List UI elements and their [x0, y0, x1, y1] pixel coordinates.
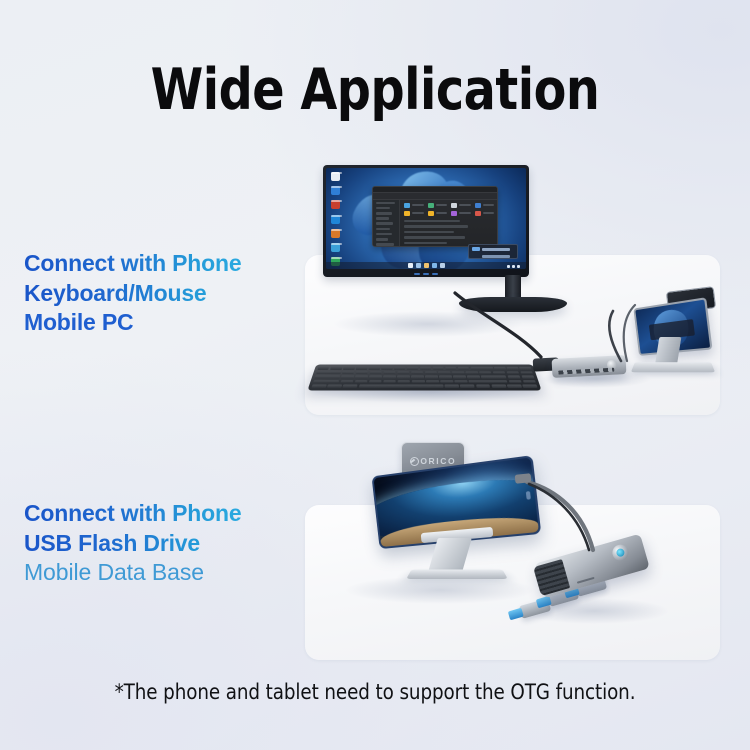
keyboard[interactable]: [307, 365, 541, 391]
caption-line-1: Connect with Phone: [24, 250, 241, 277]
desktop-workstation-scene: [305, 165, 720, 420]
monitor-bezel: [323, 165, 529, 277]
explorer-icon-grid: [404, 203, 494, 216]
phone-on-stand: ORICO: [371, 442, 551, 594]
caption-line-1: Connect with Phone: [24, 500, 241, 527]
stand-base: [631, 362, 715, 372]
tray-volume-icon: [512, 265, 515, 268]
page-title: Wide Application: [26, 58, 724, 122]
caption-line-3: Mobile PC: [24, 309, 241, 336]
orico-logo: ORICO: [410, 456, 456, 466]
usb-c-hub: [552, 355, 627, 378]
caption-line-3: Mobile Data Base: [24, 559, 241, 586]
explorer-file-list: [404, 220, 494, 247]
taskbar-app-icon[interactable]: [440, 263, 445, 268]
desktop-icon-app[interactable]: [331, 243, 340, 252]
taskbar[interactable]: [326, 262, 526, 269]
monitor-led-indicator: [414, 273, 438, 276]
product-feature-page: Wide Application: [0, 0, 750, 750]
desktop-icon-recycle-bin[interactable]: [331, 172, 340, 181]
caption-line-2: Keyboard/Mouse: [24, 280, 241, 307]
explorer-file-area[interactable]: [400, 200, 497, 247]
stand-base: [406, 570, 508, 579]
phone-port: [526, 491, 531, 500]
orico-ring-icon: [410, 457, 419, 466]
taskbar-edge-icon[interactable]: [432, 263, 437, 268]
phone-flash-drive-scene: ORICO: [305, 430, 720, 665]
caption-connect-phone-keyboard-mouse: Connect with Phone Keyboard/Mouse Mobile…: [24, 250, 241, 339]
monitor: [323, 165, 529, 277]
tray-battery-icon: [517, 265, 520, 268]
tablet-on-stand: [623, 295, 715, 391]
monitor-screen: [326, 168, 526, 269]
desktop-icon-app[interactable]: [331, 186, 340, 195]
tray-network-icon: [507, 265, 510, 268]
caption-connect-phone-usb-flash-drive: Connect with Phone USB Flash Drive Mobil…: [24, 500, 241, 586]
astronaut-icon: [424, 495, 444, 528]
file-explorer-window[interactable]: [372, 186, 498, 247]
stand-leg: [428, 538, 472, 572]
taskbar-search-icon[interactable]: [416, 263, 421, 268]
footnote-otg-requirement: *The phone and tablet need to support th…: [11, 680, 739, 704]
desktop-icon-app[interactable]: [331, 215, 340, 224]
system-tray[interactable]: [507, 265, 520, 268]
hub-dial: [607, 360, 618, 371]
monitor-base: [459, 297, 567, 312]
desktop-icons: [329, 171, 355, 269]
window-body: [373, 200, 497, 247]
monitor-shadow: [333, 311, 523, 337]
desktop-icon-app[interactable]: [331, 200, 340, 209]
hub-to-tablet-cable: [609, 311, 621, 361]
window-toolbar[interactable]: [373, 193, 497, 200]
explorer-sidebar[interactable]: [373, 200, 400, 247]
caption-line-2: USB Flash Drive: [24, 530, 241, 557]
stand-legs: [407, 530, 507, 588]
desktop-icon-app[interactable]: [331, 229, 340, 238]
taskbar-explorer-icon[interactable]: [424, 263, 429, 268]
notification-toast[interactable]: [468, 244, 518, 259]
taskbar-start-icon[interactable]: [408, 263, 413, 268]
